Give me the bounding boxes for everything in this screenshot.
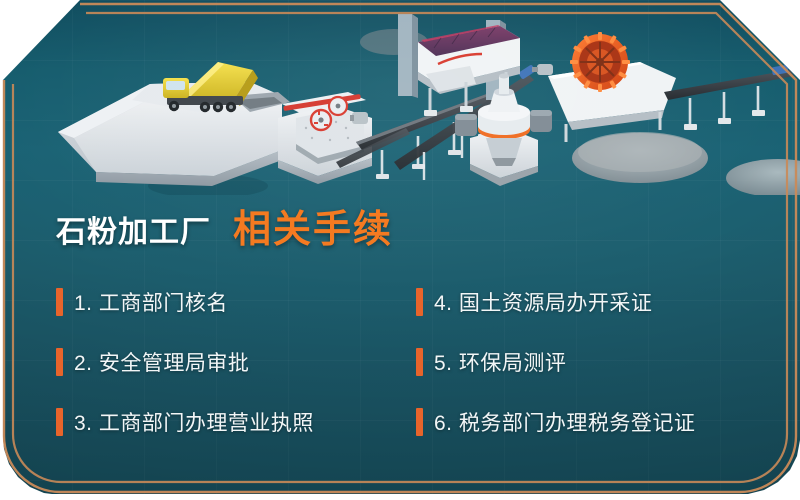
list-item-label: 4. 国土资源局办开采证	[434, 287, 652, 317]
production-line-illustration	[0, 0, 800, 195]
jaw-crusher	[278, 92, 372, 184]
headline-primary: 石粉加工厂	[56, 207, 211, 251]
vsi-sand-maker	[455, 74, 552, 187]
headline-accent: 相关手续	[233, 198, 393, 253]
list-item-label: 1. 工商部门核名	[74, 287, 228, 317]
teal-panel: 石粉加工厂 相关手续 1. 工商部门核名 4. 国土资源局办开采证 2. 安全管…	[0, 0, 800, 500]
sand-washer	[532, 32, 676, 142]
list-item-label: 2. 安全管理局审批	[74, 347, 249, 377]
bullet-bar-icon	[56, 288, 63, 316]
banner-headline: 石粉加工厂 相关手续	[56, 198, 393, 253]
banner-stage: 石粉加工厂 相关手续 1. 工商部门核名 4. 国土资源局办开采证 2. 安全管…	[0, 0, 800, 500]
list-item[interactable]: 5. 环保局测评	[416, 332, 756, 392]
bullet-bar-icon	[416, 288, 423, 316]
list-item-label: 3. 工商部门办理营业执照	[74, 407, 314, 437]
list-item[interactable]: 2. 安全管理局审批	[56, 332, 416, 392]
list-item[interactable]: 1. 工商部门核名	[56, 272, 416, 332]
list-item-label: 6. 税务部门办理税务登记证	[434, 407, 695, 437]
belt-conveyor-discharge	[664, 65, 794, 130]
list-item[interactable]: 3. 工商部门办理营业执照	[56, 392, 416, 452]
bullet-bar-icon	[416, 348, 423, 376]
bullet-bar-icon	[56, 408, 63, 436]
list-item[interactable]: 6. 税务部门办理税务登记证	[416, 392, 756, 452]
list-item[interactable]: 4. 国土资源局办开采证	[416, 272, 756, 332]
list-item-label: 5. 环保局测评	[434, 347, 566, 377]
procedure-list: 1. 工商部门核名 4. 国土资源局办开采证 2. 安全管理局审批 5. 环保局…	[56, 272, 756, 452]
bullet-bar-icon	[416, 408, 423, 436]
illustration-svg	[0, 0, 800, 195]
bullet-bar-icon	[56, 348, 63, 376]
